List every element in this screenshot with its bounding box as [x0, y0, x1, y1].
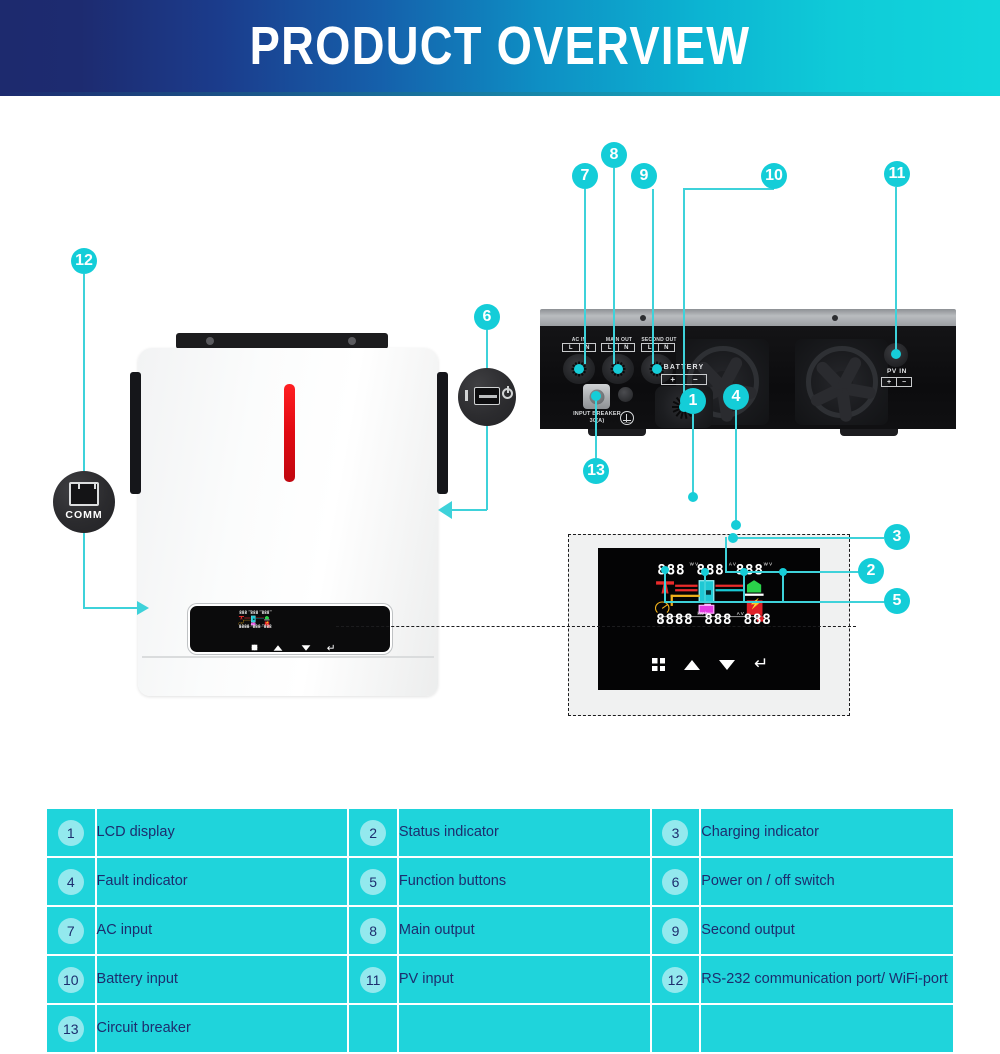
- house-base-icon: [745, 594, 764, 597]
- lcd-readout-bottom-right: 888: [264, 625, 272, 630]
- power-off-marker-icon: [502, 388, 513, 399]
- legend-table: 1 LCD display 2 Status indicator 3 Charg…: [45, 807, 955, 1054]
- lcd-readout-bottom-left: 8888: [239, 625, 250, 630]
- callout-badge-10[interactable]: 10: [761, 163, 787, 189]
- legend-number-cell: 13: [47, 1005, 95, 1052]
- callout-badge-7[interactable]: 7: [572, 163, 598, 189]
- legend-text-cell: Main output: [399, 907, 650, 954]
- comm-label: COMM: [53, 509, 115, 521]
- legend-number-cell: 6: [652, 858, 700, 905]
- legend-number-cell-empty: [349, 1005, 397, 1052]
- leader-line-1: [692, 414, 694, 494]
- legend-number: 5: [360, 869, 386, 895]
- legend-table-body: 1 LCD display 2 Status indicator 3 Charg…: [47, 809, 953, 1052]
- terminal-l: L: [602, 344, 619, 351]
- callout-badge-9[interactable]: 9: [631, 163, 657, 189]
- leader-line-2-vert: [725, 537, 727, 572]
- legend-number: 7: [58, 918, 84, 944]
- heatsink-fin-left: [130, 372, 141, 494]
- leader-dot-1: [688, 492, 698, 502]
- power-on-marker-icon: [465, 390, 468, 401]
- terminal-l: L: [642, 344, 659, 351]
- legend-number: 10: [58, 967, 84, 993]
- load-flow-line: [715, 585, 744, 587]
- legend-number-cell: 8: [349, 907, 397, 954]
- lcd-readout-top-right: 888: [262, 611, 270, 616]
- legend-number: 1: [58, 820, 84, 846]
- leader-dot-5d: [779, 568, 787, 576]
- legend-number-cell: 7: [47, 907, 95, 954]
- enter-icon[interactable]: ↵: [754, 658, 768, 671]
- callout-badge-13[interactable]: 13: [583, 458, 609, 484]
- legend-number-cell-empty: [652, 1005, 700, 1052]
- leader-arrow-12: [137, 601, 149, 615]
- leader-line-13: [595, 396, 597, 458]
- menu-grid-icon[interactable]: [252, 645, 258, 651]
- lcd-readout-top-mid: 888: [250, 611, 258, 616]
- legend-text-cell: Circuit breaker: [97, 1005, 348, 1052]
- body-seam: [142, 656, 434, 658]
- lcd-readout-bottom-mid: 888: [253, 625, 261, 630]
- terminal-l: L: [563, 344, 580, 351]
- leader-dot-3: [728, 533, 738, 543]
- legend-text-cell: RS-232 communication port/ WiFi-port: [701, 956, 953, 1003]
- leader-dot-8: [613, 364, 623, 374]
- down-arrow-icon[interactable]: [301, 645, 310, 651]
- down-arrow-icon[interactable]: [719, 660, 735, 670]
- leader-dot-7: [574, 364, 584, 374]
- legend-text-cell: Charging indicator: [701, 809, 953, 856]
- house-load-icon: [747, 580, 762, 592]
- device-function-button-row[interactable]: ↵: [250, 642, 334, 653]
- rocker-switch-icon[interactable]: [474, 387, 500, 405]
- legend-text-cell: Fault indicator: [97, 858, 348, 905]
- legend-text-cell: Second output: [701, 907, 953, 954]
- legend-number: 12: [662, 967, 688, 993]
- legend-number-cell: 5: [349, 858, 397, 905]
- callout-badge-11[interactable]: 11: [884, 161, 910, 187]
- power-switch-detail[interactable]: [458, 368, 516, 426]
- legend-text-cell: PV input: [399, 956, 650, 1003]
- callout-badge-12[interactable]: 12: [71, 248, 97, 274]
- second-out-terminal-block: L N: [641, 343, 675, 352]
- magnified-lcd-screen[interactable]: 888 W V 888 A V 888 W V: [598, 548, 820, 690]
- leader-line-9: [652, 189, 654, 364]
- legend-number-cell: 12: [652, 956, 700, 1003]
- grid-tower-crossbar-icon: [239, 616, 244, 617]
- blank-plug-hole: [618, 387, 633, 402]
- legend-text-cell: LCD display: [97, 809, 348, 856]
- legend-text-cell: AC input: [97, 907, 348, 954]
- panel-foot-right: [840, 429, 898, 436]
- legend-number: 9: [662, 918, 688, 944]
- callout-badge-3[interactable]: 3: [884, 524, 910, 550]
- leader-line-12-horiz: [83, 607, 138, 609]
- terminal-n: N: [659, 344, 675, 351]
- callout-badge-8[interactable]: 8: [601, 142, 627, 168]
- legend-number: 2: [360, 820, 386, 846]
- leader-line-5c: [743, 574, 745, 602]
- lcd-unit-top-right: W V: [764, 562, 772, 567]
- legend-number-cell: 3: [652, 809, 700, 856]
- pv-plus: +: [882, 378, 897, 386]
- leader-line-3: [736, 537, 884, 539]
- legend-number-cell: 10: [47, 956, 95, 1003]
- magnifier-connector-line: [336, 626, 856, 627]
- leader-line-7: [584, 189, 586, 364]
- leader-dot-11: [891, 349, 901, 359]
- main-out-terminal-block: L N: [601, 343, 635, 352]
- table-row: 13 Circuit breaker: [47, 1005, 953, 1052]
- leader-line-5d: [782, 574, 784, 602]
- leader-dot-5a: [661, 566, 669, 574]
- terminal-n: N: [619, 344, 635, 351]
- load-flow-line: [715, 589, 744, 591]
- rail-screw: [640, 315, 646, 321]
- rail-screw: [832, 315, 838, 321]
- lcd-unit-top-right: W V: [270, 611, 272, 612]
- leader-line-12-bottom: [83, 533, 85, 608]
- leader-line-8: [613, 168, 615, 364]
- legend-text-cell: Status indicator: [399, 809, 650, 856]
- page-title: PRODUCT OVERVIEW: [80, 0, 920, 92]
- legend-number-cell: 11: [349, 956, 397, 1003]
- rj45-icon: [69, 482, 99, 506]
- battery-minus: −: [685, 375, 707, 384]
- leader-line-4: [735, 410, 737, 522]
- panel-top-rail: [540, 309, 956, 326]
- ground-symbol-icon: [620, 411, 634, 425]
- device-lcd-graphic: 888 W V 888 A V 888 W V: [236, 610, 272, 618]
- enter-icon[interactable]: ↵: [327, 645, 333, 651]
- leader-arrow-6: [438, 501, 452, 519]
- legend-number-cell: 9: [652, 907, 700, 954]
- leader-line-5a: [664, 572, 666, 602]
- legend-text-cell: Battery input: [97, 956, 348, 1003]
- legend-number: 8: [360, 918, 386, 944]
- up-arrow-icon[interactable]: [684, 660, 700, 670]
- panel-foot-left: [588, 429, 646, 436]
- menu-grid-icon[interactable]: [652, 658, 665, 671]
- leader-line-5-bus: [664, 601, 885, 603]
- device-lcd-panel[interactable]: 888 W V 888 A V 888 W V: [188, 604, 392, 654]
- up-arrow-icon[interactable]: [274, 645, 283, 651]
- leader-line-10: [683, 189, 685, 402]
- legend-number: 6: [662, 869, 688, 895]
- battery-plus: +: [662, 375, 685, 384]
- diagram-canvas: 888 W V 888 A V 888 W V: [0, 96, 1000, 1000]
- ac-in-terminal-block: L N: [562, 343, 596, 352]
- callout-badge-5[interactable]: 5: [884, 588, 910, 614]
- bracket-hole: [348, 337, 356, 345]
- legend-number-cell: 2: [349, 809, 397, 856]
- pv-terminal-label: PV IN: [876, 368, 918, 375]
- legend-number-cell: 1: [47, 809, 95, 856]
- leader-dot-9: [652, 364, 662, 374]
- lcd-readout-top-left: 888: [239, 611, 247, 616]
- leader-line-10-join: [683, 188, 774, 190]
- heatsink-fin-right: [437, 372, 448, 494]
- leader-line-12-top: [83, 274, 85, 471]
- legend-text-cell-empty: [399, 1005, 650, 1052]
- leader-line-6-horiz: [452, 509, 487, 511]
- callout-badge-6[interactable]: 6: [474, 304, 500, 330]
- table-row: 1 LCD display 2 Status indicator 3 Charg…: [47, 809, 953, 856]
- table-row: 4 Fault indicator 5 Function buttons 6 P…: [47, 858, 953, 905]
- pv-polarity-block: + −: [881, 377, 912, 387]
- leader-line-6-top: [486, 330, 488, 368]
- grid-flow-line: [675, 589, 697, 591]
- callout-badge-2[interactable]: 2: [858, 558, 884, 584]
- legend-text-cell: Power on / off switch: [701, 858, 953, 905]
- page-header: PRODUCT OVERVIEW: [0, 0, 1000, 92]
- cooling-fan-right: [795, 339, 888, 425]
- wall-mount-bracket: [176, 333, 388, 349]
- leader-dot-5b: [701, 568, 709, 576]
- leader-dot-5c: [740, 568, 748, 576]
- circuit-breaker-label: INPUT BREAKER30(A): [566, 411, 628, 425]
- legend-text-cell: Function buttons: [399, 858, 650, 905]
- inverter-icon: [699, 580, 715, 602]
- magnified-function-button-row[interactable]: ↵: [652, 658, 768, 671]
- callout-badge-1[interactable]: 1: [680, 388, 706, 414]
- leader-line-5b: [704, 574, 706, 602]
- leader-dot-13: [591, 391, 601, 401]
- callout-badge-4[interactable]: 4: [723, 384, 749, 410]
- pv-minus: −: [897, 378, 911, 386]
- legend-text-cell-empty: [701, 1005, 953, 1052]
- terminal-n: N: [580, 344, 596, 351]
- table-row: 10 Battery input 11 PV input 12 RS-232 c…: [47, 956, 953, 1003]
- table-row: 7 AC input 8 Main output 9 Second output: [47, 907, 953, 954]
- grid-flow-line: [675, 585, 697, 587]
- legend-number: 4: [58, 869, 84, 895]
- status-led-strip: [284, 384, 295, 482]
- legend-number: 13: [58, 1016, 84, 1042]
- leader-dot-4: [731, 520, 741, 530]
- legend-number: 11: [360, 967, 386, 993]
- leader-line-6-bottom: [486, 426, 488, 510]
- legend-number: 3: [662, 820, 688, 846]
- bracket-hole: [206, 337, 214, 345]
- legend-number-cell: 4: [47, 858, 95, 905]
- comm-port-detail[interactable]: COMM: [53, 471, 115, 533]
- pv-flow-line: [671, 595, 700, 597]
- leader-line-11: [895, 187, 897, 353]
